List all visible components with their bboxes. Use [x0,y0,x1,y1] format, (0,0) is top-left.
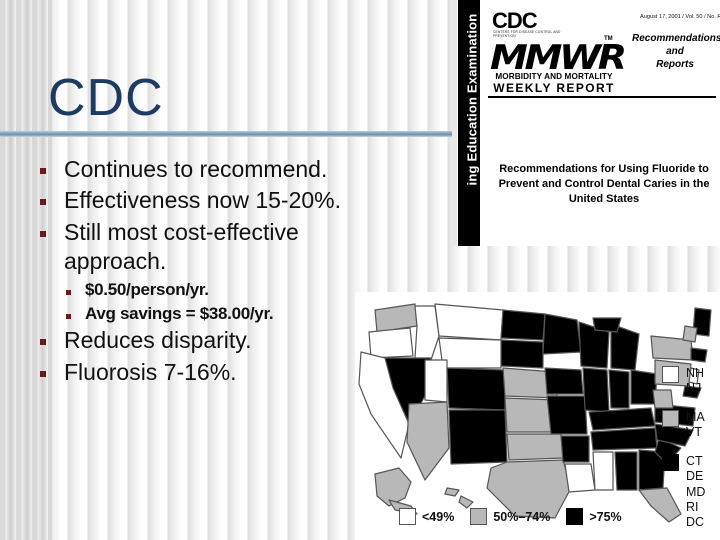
state-mi-up [593,318,621,332]
state-hi [445,488,459,496]
state-co [447,368,505,410]
bullet-list: Continues to recommend. Effectiveness no… [30,155,400,389]
list-item-label: Still most cost-effective approach. [64,218,400,277]
map-legend-entry-black: CT DE MD RI DC [662,454,705,530]
mmwr-cover-image: ing Education Examination CDC CENTERS FO… [452,0,720,246]
state-mn [543,314,581,354]
state-hi2 [459,496,473,508]
scale-entry-high: >75% [566,508,621,525]
state-in [609,370,629,408]
map-legend-entry-white: NH NJ [662,366,704,397]
state-ar [561,436,589,462]
state-oh [631,370,657,404]
mmwr-series-label: Recommendations and Reports [632,32,718,72]
list-item: Reduces disparity. [30,326,400,355]
bullet-marker-icon [40,199,46,205]
state-vt-nh [683,326,697,342]
list-item-label: Effectiveness now 15-20%. [64,186,341,215]
list-item-label: Reduces disparity. [64,326,252,355]
state-nm [449,410,507,464]
state-id [415,306,439,360]
scale-label: 50%–74% [493,510,550,524]
list-item: Continues to recommend. [30,155,400,184]
bullet-marker-icon [66,290,71,295]
state-il [583,368,609,412]
us-fluoridation-map: NH NJ MA VT CT DE MD RI DC <49% 50%–74% … [355,292,720,540]
map-legend-entry-gray: MA VT [662,410,705,441]
state-tn [591,428,657,450]
legend-state-list: CT DE MD RI DC [686,454,705,530]
state-ak [375,468,411,506]
map-scale-legend: <49% 50%–74% >75% [399,508,622,525]
legend-state-list: NH NJ [686,366,704,397]
legend-swatch-white-icon [662,366,679,383]
mmwr-left-margin [452,0,457,246]
state-ma-ct-ri [691,348,707,362]
state-nd [501,310,545,340]
mmwr-report-title: Recommendations for Using Fluoride to Pr… [490,162,718,208]
bullet-marker-icon [40,168,46,174]
list-item-label: Continues to recommend. [64,155,327,184]
state-wy [439,338,501,368]
mmwr-masthead-line1: MORBIDITY AND MORTALITY [490,72,618,81]
scale-swatch-gray-icon [470,508,487,525]
state-mt [435,304,503,340]
bullet-marker-icon [40,231,46,237]
scale-label: >75% [589,510,621,524]
state-az [407,402,449,480]
state-la [565,464,595,492]
state-mo [547,396,587,434]
mmwr-side-tab: ing Education Examination [458,0,480,246]
list-item-label: Avg savings = $38.00/yr. [85,303,273,325]
cdc-logo-subtext: CENTERS FOR DISEASE CONTROL AND PREVENTI… [493,30,573,38]
state-wa [375,304,417,332]
state-ok [507,434,563,460]
slide-canvas: CDC Continues to recommend. Effectivenes… [0,0,720,540]
mmwr-masthead-line2: WEEKLY REPORT [490,81,618,95]
scale-swatch-black-icon [566,508,583,525]
state-ms [593,452,613,490]
title-divider [0,131,452,137]
page-title: CDC [48,72,164,124]
list-item: Effectiveness now 15-20%. [30,186,400,215]
bullet-marker-icon [40,339,46,345]
list-item: Still most cost-effective approach. [30,218,400,277]
state-ky [589,408,655,430]
state-sd [501,340,543,368]
mmwr-issue-line: August 17, 2001 / Vol. 50 / No. RR-14 [640,14,720,20]
trademark-icon: TM [604,36,613,42]
state-or [369,328,413,358]
state-al [615,452,637,490]
scale-label: <49% [422,510,454,524]
list-item-label: $0.50/person/yr. [85,279,209,301]
list-item-label: Fluorosis 7-16%. [64,358,237,387]
list-item: Avg savings = $38.00/yr. [30,303,400,325]
scale-swatch-white-icon [399,508,416,525]
bullet-marker-icon [66,314,71,319]
list-item: Fluorosis 7-16%. [30,358,400,387]
list-item: $0.50/person/yr. [30,279,400,301]
scale-entry-low: <49% [399,508,454,525]
state-ut [425,360,447,402]
mmwr-rule [488,96,716,98]
state-ia [545,368,583,394]
mmwr-side-tab-label: ing Education Examination [465,0,480,200]
legend-state-list: MA VT [686,410,705,441]
scale-entry-mid: 50%–74% [470,508,550,525]
legend-swatch-black-icon [662,454,679,471]
legend-swatch-gray-icon [662,410,679,427]
bullet-marker-icon [40,371,46,377]
